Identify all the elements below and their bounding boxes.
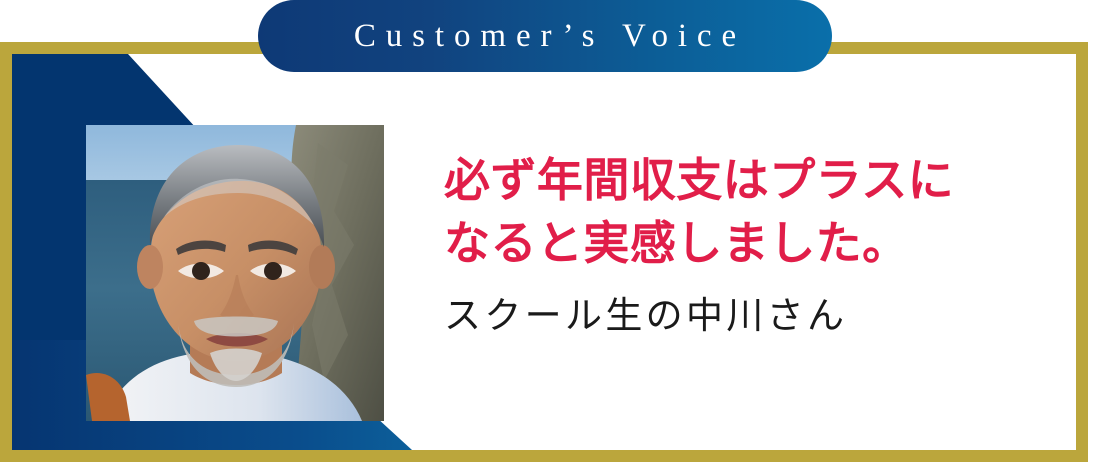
card-inner-panel: 必ず年間収支はプラスに なると実感しました。 スクール生の中川さん (12, 54, 1076, 450)
portrait-illustration (86, 125, 384, 421)
badge-label: Customer’s Voice (344, 18, 746, 55)
customer-voice-card: 必ず年間収支はプラスに なると実感しました。 スクール生の中川さん Custom… (0, 0, 1100, 462)
testimonial-text-block: 必ず年間収支はプラスに なると実感しました。 スクール生の中川さん (444, 149, 1064, 338)
testimonial-headline: 必ず年間収支はプラスに なると実感しました。 (444, 149, 1064, 276)
headline-line-1: 必ず年間収支はプラスに (444, 154, 954, 206)
customer-voice-badge: Customer’s Voice (258, 0, 832, 72)
customer-portrait-photo (86, 125, 384, 421)
testimonial-attribution: スクール生の中川さん (444, 294, 1064, 338)
headline-line-2: なると実感しました。 (444, 212, 1064, 275)
gold-border-frame: 必ず年間収支はプラスに なると実感しました。 スクール生の中川さん (0, 42, 1088, 462)
